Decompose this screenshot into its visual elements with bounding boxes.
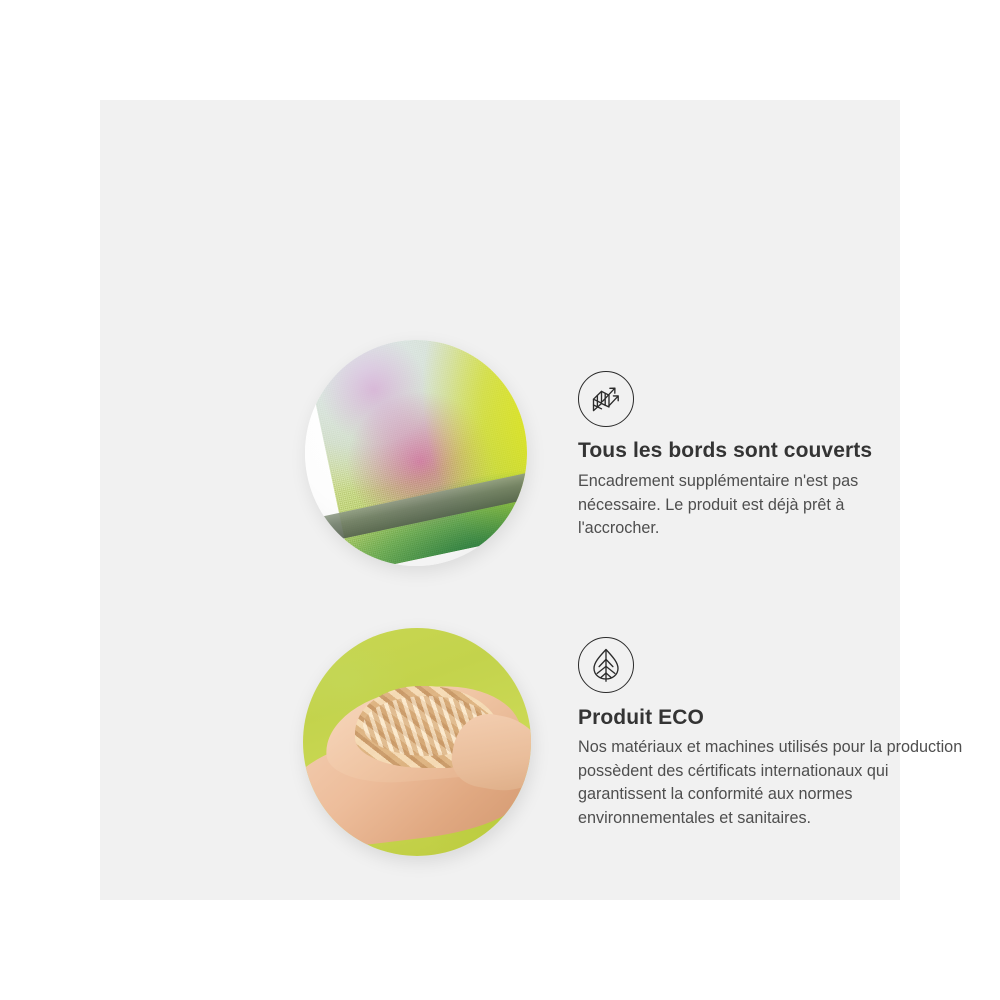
- feature-title-covered-edges: Tous les bords sont couverts: [578, 439, 872, 463]
- product-feature-infographic: Tous les bords sont couverts Encadrement…: [0, 0, 1000, 1000]
- content-panel: Tous les bords sont couverts Encadrement…: [100, 100, 900, 900]
- feature-body-eco-product: Nos matériaux et machines utilisés pour …: [578, 736, 978, 830]
- feature-body-covered-edges: Encadrement supplémentaire n'est pas néc…: [578, 470, 928, 541]
- leaf-icon: [578, 637, 634, 693]
- feature-title-eco-product: Produit ECO: [578, 706, 704, 730]
- product-canvas-corner-photo: [305, 340, 527, 566]
- hands-holding-wood-chips-photo: [303, 628, 531, 856]
- canvas-wrapped-edge-icon: [578, 371, 634, 427]
